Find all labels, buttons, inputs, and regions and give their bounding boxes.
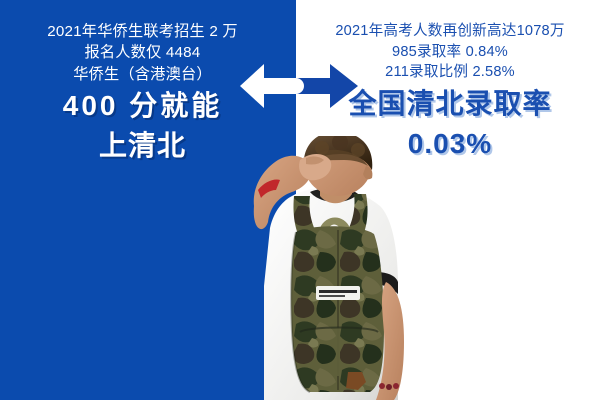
arrow-pair xyxy=(232,58,368,114)
right-line-1: 2021年高考人数再创新高达1078万 xyxy=(300,22,600,41)
bracelet xyxy=(379,383,399,390)
student-photo xyxy=(248,136,434,400)
left-headline-2: 上清北 xyxy=(0,128,285,164)
arrow-right-icon xyxy=(296,64,358,108)
poster-canvas: 2021年华侨生联考招生 2 万 报名人数仅 4484 华侨生（含港澳台） 40… xyxy=(0,0,600,400)
left-line-1: 2021年华侨生联考招生 2 万 xyxy=(0,22,285,41)
arrow-left-icon xyxy=(240,64,290,108)
